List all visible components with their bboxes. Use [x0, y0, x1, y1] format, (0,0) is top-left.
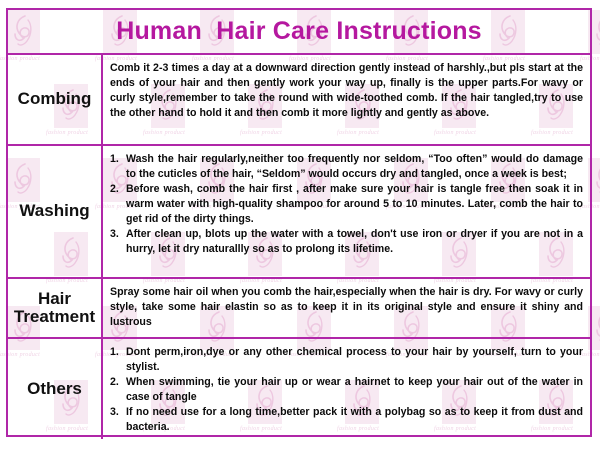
row-content-combing: Comb it 2-3 times a day at a downward di… [103, 55, 590, 144]
list-item: 3. After clean up, blots up the water wi… [110, 227, 583, 257]
list-item-text: Wash the hair regularly,neither too freq… [126, 152, 583, 182]
list-item-number: 1. [110, 345, 126, 360]
row-label-others: Others [8, 339, 103, 439]
table-title-row: Human Hair Care Instructions [8, 10, 590, 55]
list-item: 2. Before wash, comb the hair first , af… [110, 182, 583, 227]
list-item: 3. If no need use for a long time,better… [110, 405, 583, 435]
others-list: 1. Dont perm,iron,dye or any other chemi… [110, 345, 583, 435]
row-label-combing: Combing [8, 55, 103, 144]
list-item-text: Dont perm,iron,dye or any other chemical… [126, 345, 583, 375]
list-item-number: 2. [110, 375, 126, 390]
list-item-number: 1. [110, 152, 126, 167]
table-row: Others 1. Dont perm,iron,dye or any othe… [8, 339, 590, 439]
combing-paragraph: Comb it 2-3 times a day at a downward di… [110, 61, 583, 121]
table-row: Hair Treatment Spray some hair oil when … [8, 279, 590, 339]
table-row: Combing Comb it 2-3 times a day at a dow… [8, 55, 590, 146]
hair-treatment-paragraph: Spray some hair oil when you comb the ha… [110, 285, 583, 330]
list-item-text: After clean up, blots up the water with … [126, 227, 583, 257]
list-item-text: When swimming, tie your hair up or wear … [126, 375, 583, 405]
washing-list: 1. Wash the hair regularly,neither too f… [110, 152, 583, 257]
list-item: 2. When swimming, tie your hair up or we… [110, 375, 583, 405]
row-label-hair-treatment: Hair Treatment [8, 279, 103, 337]
instructions-table: Human Hair Care Instructions Combing Com… [6, 8, 592, 437]
list-item-number: 2. [110, 182, 126, 197]
list-item: 1. Wash the hair regularly,neither too f… [110, 152, 583, 182]
list-item-number: 3. [110, 227, 126, 242]
row-content-hair-treatment: Spray some hair oil when you comb the ha… [103, 279, 590, 337]
page-title: Human Hair Care Instructions [116, 17, 482, 46]
table-row: Washing 1. Wash the hair regularly,neith… [8, 146, 590, 279]
row-label-washing: Washing [8, 146, 103, 277]
list-item-number: 3. [110, 405, 126, 420]
list-item-text: Before wash, comb the hair first , after… [126, 182, 583, 227]
row-content-others: 1. Dont perm,iron,dye or any other chemi… [103, 339, 590, 439]
row-content-washing: 1. Wash the hair regularly,neither too f… [103, 146, 590, 277]
list-item: 1. Dont perm,iron,dye or any other chemi… [110, 345, 583, 375]
list-item-text: If no need use for a long time,better pa… [126, 405, 583, 435]
